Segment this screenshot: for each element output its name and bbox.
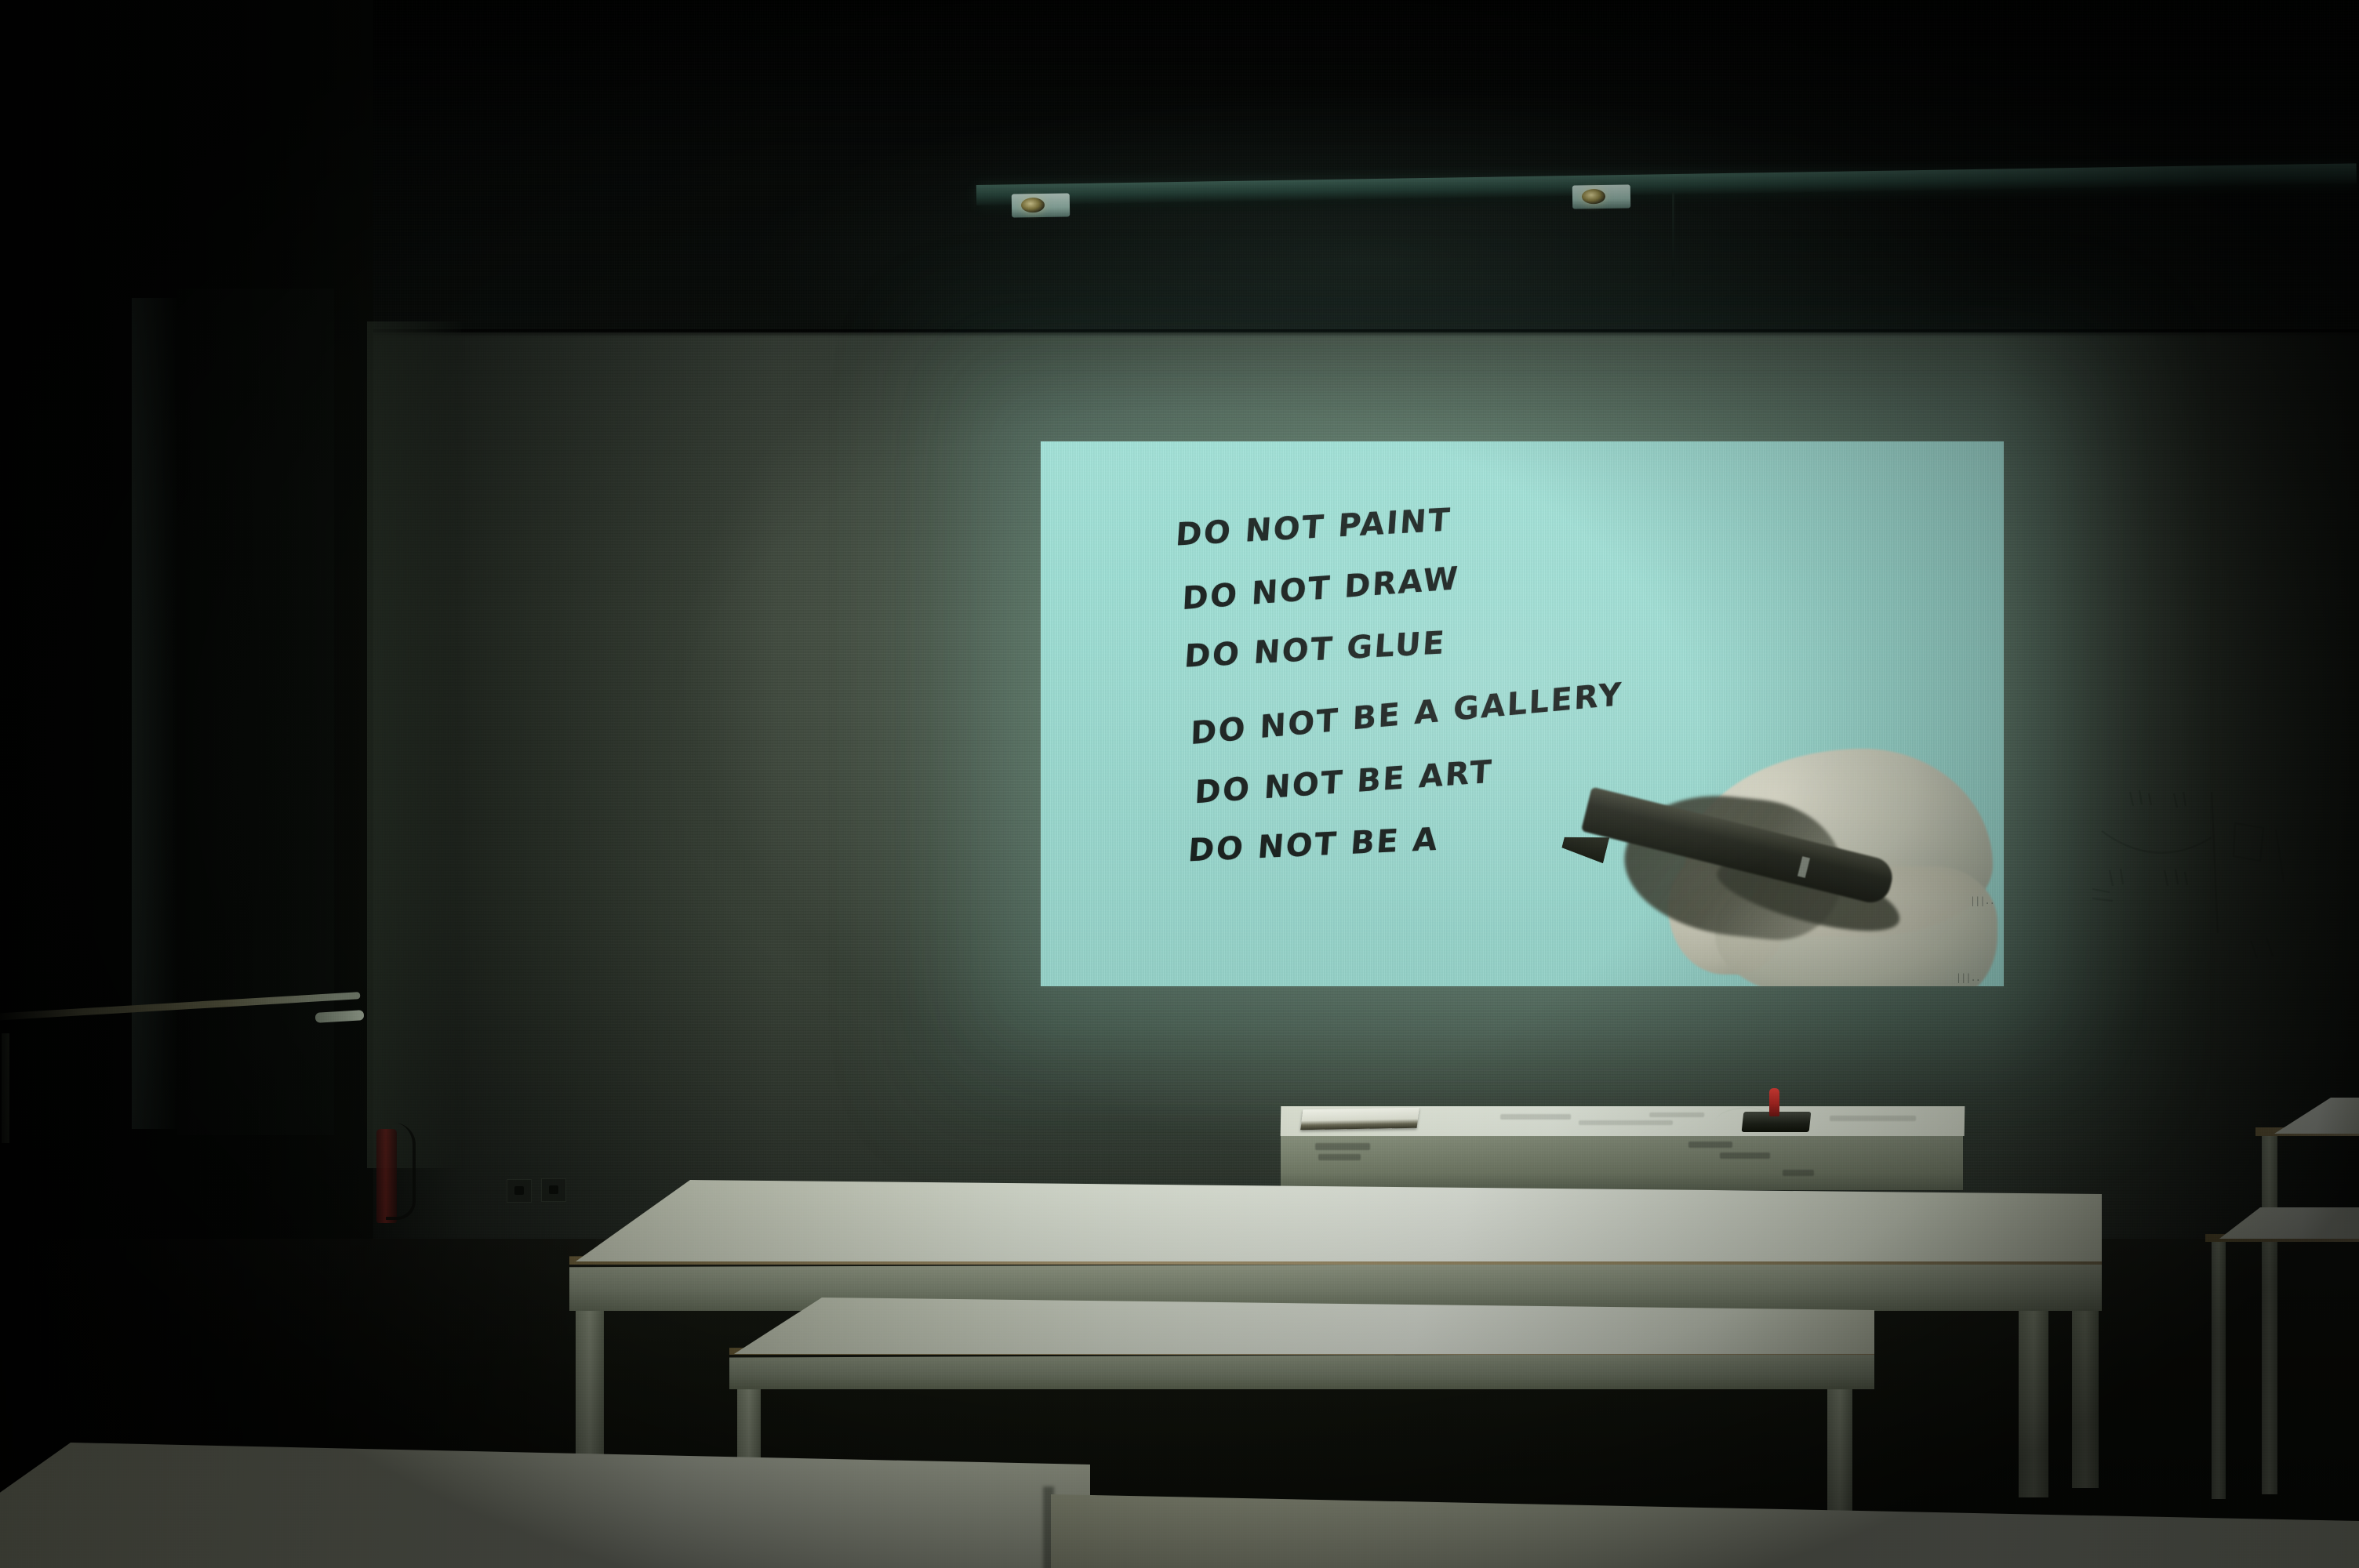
gallery-room-scene: DO NOT PAINT DO NOT DRAW DO NOT GLUE DO … bbox=[0, 0, 2359, 1568]
table-leg bbox=[2019, 1294, 2048, 1497]
spotlight-bulb bbox=[1582, 189, 1605, 204]
booklet[interactable] bbox=[1300, 1108, 1419, 1131]
plinth-scuff bbox=[1315, 1143, 1370, 1150]
plinth-mark bbox=[1830, 1116, 1916, 1121]
wall-socket bbox=[507, 1179, 532, 1203]
main-table-apron bbox=[569, 1262, 2102, 1311]
right-bench-leg bbox=[2212, 1240, 2226, 1499]
left-wall-face bbox=[367, 321, 461, 1168]
hanging-cable bbox=[1672, 192, 1674, 277]
plinth-mark bbox=[1649, 1112, 1704, 1117]
foreground-table bbox=[0, 1443, 1090, 1568]
plinth-scuff bbox=[1720, 1152, 1770, 1159]
plinth-mark bbox=[1579, 1120, 1673, 1125]
plinth-scuff bbox=[1783, 1170, 1814, 1176]
display-plinth-face bbox=[1281, 1134, 1963, 1190]
wall-socket bbox=[541, 1178, 566, 1202]
plinth-scuff bbox=[1688, 1142, 1732, 1148]
spotlight-bulb bbox=[1021, 198, 1045, 212]
bench-leg bbox=[1827, 1369, 1852, 1523]
handrail-post bbox=[2, 1033, 9, 1143]
table-leg bbox=[2072, 1290, 2099, 1488]
wall-pencil-marks bbox=[2078, 745, 2345, 1004]
projection-screen: DO NOT PAINT DO NOT DRAW DO NOT GLUE DO … bbox=[1041, 441, 2004, 986]
screen-vignette bbox=[1041, 441, 2004, 986]
fire-extinguisher-hose bbox=[386, 1123, 416, 1220]
bench-apron bbox=[729, 1353, 1874, 1389]
main-table-top bbox=[569, 1180, 2102, 1261]
right-table-leg bbox=[2262, 1134, 2277, 1494]
joystick-stick-icon[interactable] bbox=[1769, 1088, 1779, 1116]
ceiling-spotlight-icon bbox=[1012, 193, 1070, 217]
plinth-scuff bbox=[1318, 1154, 1361, 1160]
ceiling-spotlight-icon bbox=[1572, 184, 1630, 209]
plinth-mark bbox=[1500, 1114, 1571, 1120]
